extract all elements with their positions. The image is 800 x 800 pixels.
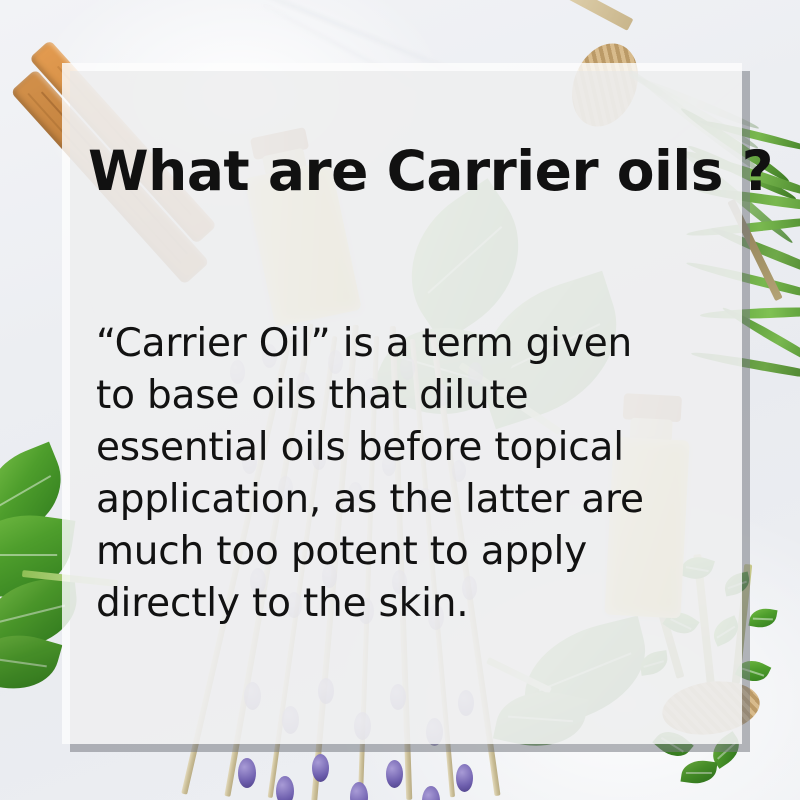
body-line: directly to the skin. <box>96 578 726 630</box>
page-title: What are Carrier oils ? <box>88 142 728 200</box>
body-line: “Carrier Oil” is a term given <box>96 318 726 370</box>
body-line: essential oils before topical <box>96 422 726 474</box>
twine-tail <box>543 0 634 31</box>
body-line: much too potent to apply <box>96 526 726 578</box>
infographic-canvas: What are Carrier oils ? “Carrier Oil” is… <box>0 0 800 800</box>
body-text: “Carrier Oil” is a term given to base oi… <box>96 318 726 630</box>
body-line: application, as the latter are <box>96 474 726 526</box>
body-line: to base oils that dilute <box>96 370 726 422</box>
